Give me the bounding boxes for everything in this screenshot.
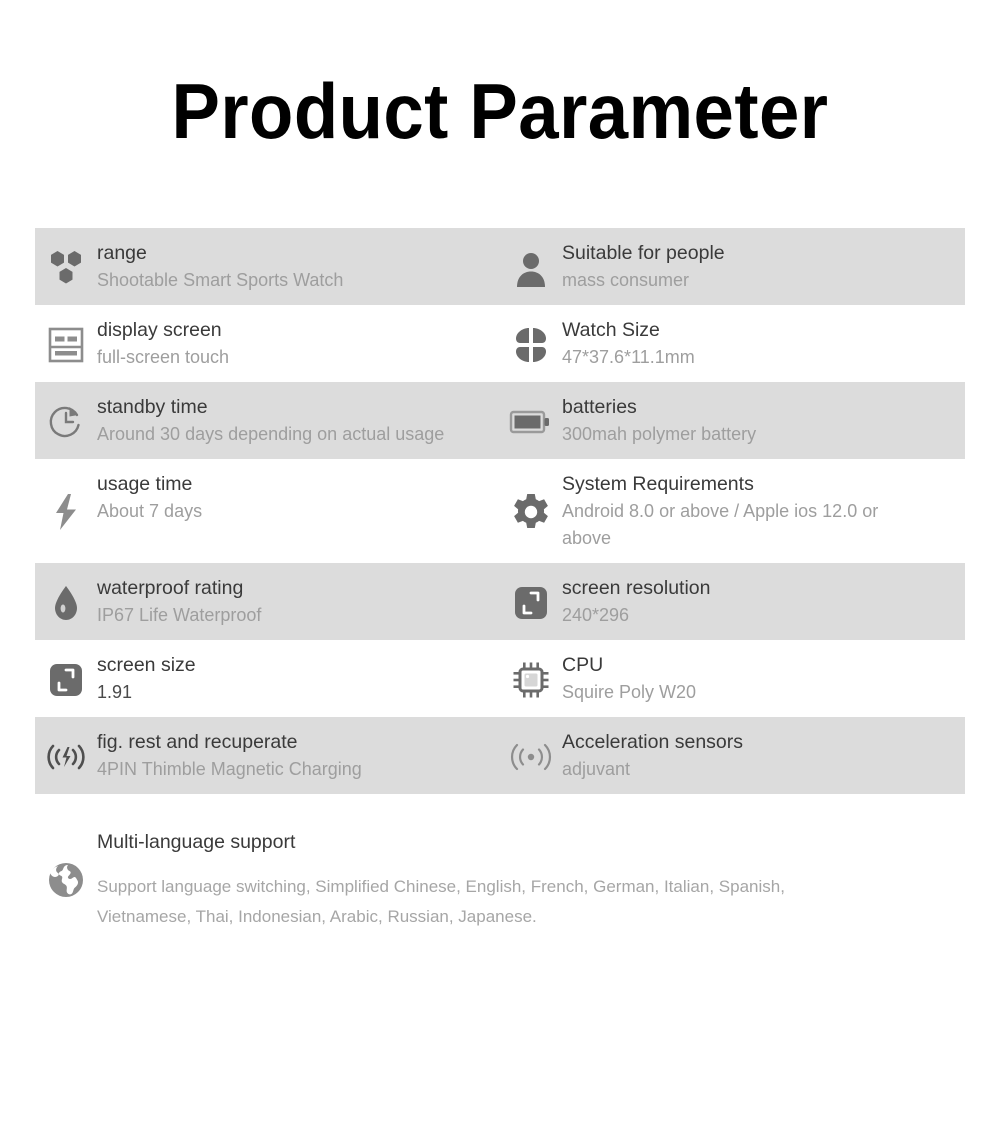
cell-text: CPU Squire Poly W20 [562, 651, 696, 706]
spec-value: 300mah polymer battery [562, 421, 756, 448]
cell-text: display screen full-screen touch [97, 316, 229, 371]
spec-label: CPU [562, 652, 696, 679]
spec-row: waterproof rating IP67 Life Waterproof s… [35, 563, 965, 640]
spec-table: range Shootable Smart Sports Watch Suita… [0, 228, 1000, 794]
spec-label: batteries [562, 394, 756, 421]
spec-label: Watch Size [562, 317, 695, 344]
spec-cell-range: range Shootable Smart Sports Watch [35, 228, 500, 305]
screen-resize-icon [35, 659, 97, 699]
cell-text: Watch Size 47*37.6*11.1mm [562, 316, 695, 371]
spec-row: standby time Around 30 days depending on… [35, 382, 965, 459]
spec-row: range Shootable Smart Sports Watch Suita… [35, 228, 965, 305]
gear-icon [500, 490, 562, 532]
spec-label: screen size [97, 652, 196, 679]
spec-cell-display-screen: display screen full-screen touch [35, 305, 500, 382]
signal-waves-icon [500, 737, 562, 775]
cell-text: fig. rest and recuperate 4PIN Thimble Ma… [97, 728, 362, 783]
spec-value: mass consumer [562, 267, 725, 294]
page-title: Product Parameter [35, 0, 965, 150]
cell-text: Acceleration sensors adjuvant [562, 728, 743, 783]
cpu-chip-icon [500, 658, 562, 700]
spec-row: display screen full-screen touch Watch S… [35, 305, 965, 382]
spec-label: waterproof rating [97, 575, 261, 602]
screen-resize-icon [500, 582, 562, 622]
product-parameter-page: Product Parameter range Shootable Smart … [0, 0, 1000, 1131]
spec-cell-system-requirements: System Requirements Android 8.0 or above… [500, 459, 965, 563]
spec-cell-usage-time: usage time About 7 days [35, 459, 500, 563]
spec-cell-acceleration-sensors: Acceleration sensors adjuvant [500, 717, 965, 794]
cell-text: screen resolution 240*296 [562, 574, 711, 629]
lang-title: Multi-language support [97, 828, 785, 856]
lang-desc-line2: Vietnamese, Thai, Indonesian, Arabic, Ru… [97, 902, 785, 932]
spec-label: range [97, 240, 343, 267]
display-screen-icon [35, 324, 97, 364]
hexagon-cluster-icon [35, 246, 97, 288]
spec-row: screen size 1.91 [35, 640, 965, 717]
water-drop-icon [35, 582, 97, 622]
spec-cell-cpu: CPU Squire Poly W20 [500, 640, 965, 717]
spec-cell-charging: fig. rest and recuperate 4PIN Thimble Ma… [35, 717, 500, 794]
spec-value: 240*296 [562, 602, 711, 629]
lang-text: Multi-language support Support language … [97, 826, 785, 932]
cell-text: Suitable for people mass consumer [562, 239, 725, 294]
cell-text: standby time Around 30 days depending on… [97, 393, 444, 448]
spec-cell-batteries: batteries 300mah polymer battery [500, 382, 965, 459]
spec-cell-waterproof-rating: waterproof rating IP67 Life Waterproof [35, 563, 500, 640]
spec-row: fig. rest and recuperate 4PIN Thimble Ma… [35, 717, 965, 794]
spec-value: Around 30 days depending on actual usage [97, 421, 444, 448]
lang-desc-line1: Support language switching, Simplified C… [97, 872, 785, 902]
battery-icon [500, 405, 562, 437]
spec-cell-screen-size: screen size 1.91 [35, 640, 500, 717]
spec-cell-suitable-for-people: Suitable for people mass consumer [500, 228, 965, 305]
spec-value: Android 8.0 or above / Apple ios 12.0 or… [562, 498, 922, 552]
spec-value: IP67 Life Waterproof [97, 602, 261, 629]
person-icon [500, 247, 562, 287]
cell-text: screen size 1.91 [97, 651, 196, 706]
spec-value: 4PIN Thimble Magnetic Charging [97, 756, 362, 783]
spec-value: 47*37.6*11.1mm [562, 344, 695, 371]
spec-value: About 7 days [97, 498, 202, 525]
four-petals-icon [500, 323, 562, 365]
spec-cell-standby-time: standby time Around 30 days depending on… [35, 382, 500, 459]
spec-label: System Requirements [562, 471, 922, 498]
spec-label: fig. rest and recuperate [97, 729, 362, 756]
spec-label: display screen [97, 317, 229, 344]
spec-value: Shootable Smart Sports Watch [97, 267, 343, 294]
spec-label: Suitable for people [562, 240, 725, 267]
spec-value: 1.91 [97, 679, 196, 706]
spec-label: standby time [97, 394, 444, 421]
cell-text: batteries 300mah polymer battery [562, 393, 756, 448]
cell-text: usage time About 7 days [97, 470, 202, 525]
lightning-bolt-icon [35, 490, 97, 532]
spec-cell-watch-size: Watch Size 47*37.6*11.1mm [500, 305, 965, 382]
multi-language-block: Multi-language support Support language … [35, 820, 965, 932]
spec-row: usage time About 7 days System Requireme… [35, 459, 965, 563]
cell-text: range Shootable Smart Sports Watch [97, 239, 343, 294]
spec-value: full-screen touch [97, 344, 229, 371]
spec-value: Squire Poly W20 [562, 679, 696, 706]
spec-label: usage time [97, 471, 202, 498]
globe-icon [35, 858, 97, 900]
cell-text: waterproof rating IP67 Life Waterproof [97, 574, 261, 629]
wireless-charging-icon [35, 737, 97, 775]
spec-label: screen resolution [562, 575, 711, 602]
clock-history-icon [35, 401, 97, 441]
cell-text: System Requirements Android 8.0 or above… [562, 470, 922, 552]
spec-cell-screen-resolution: screen resolution 240*296 [500, 563, 965, 640]
spec-label: Acceleration sensors [562, 729, 743, 756]
spec-value: adjuvant [562, 756, 743, 783]
